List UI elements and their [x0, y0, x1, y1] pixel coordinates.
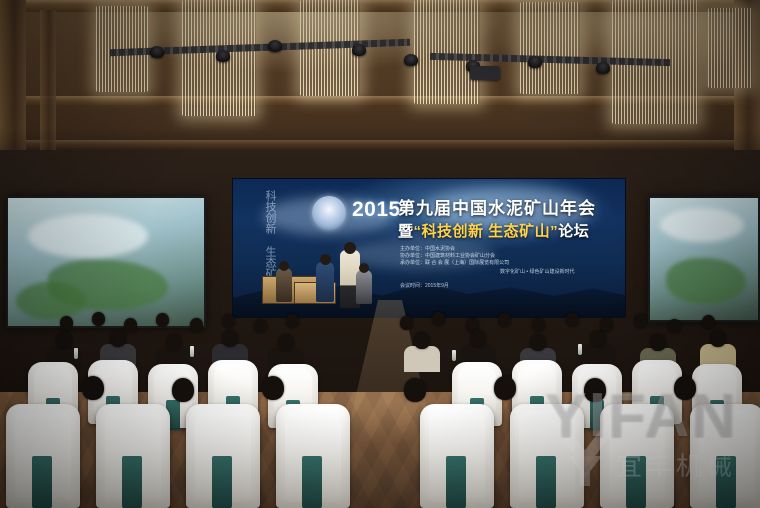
projection-screen-right — [648, 196, 760, 322]
audience-head — [124, 318, 137, 332]
chair-sash-front — [212, 456, 232, 508]
audience-head — [702, 315, 715, 329]
audience-head — [414, 332, 430, 349]
audience-head — [634, 314, 647, 328]
chair-sash-front — [536, 456, 556, 508]
backdrop-organizer-lines: 主办单位：中国水泥协会 协办单位：中国建筑材料工业协会矿山分会 承办单位：联 合… — [400, 246, 509, 267]
backdrop-title-line2-prefix: 暨 — [398, 223, 414, 240]
stage-person-seated-2-head — [279, 261, 289, 271]
audience-head — [668, 319, 681, 333]
audience-head — [710, 330, 726, 347]
chair-sash-front — [446, 456, 466, 508]
spotlight-1 — [150, 46, 164, 58]
organizer-line-1: 主办单位：中国水泥协会 — [400, 246, 509, 253]
stage-person-seated-3-head — [359, 263, 369, 273]
chandelier-5 — [520, 2, 580, 94]
stage-person-standing-head — [344, 242, 356, 254]
screen-left-foliage-2 — [16, 282, 86, 320]
audience-head — [470, 330, 486, 347]
audience-head — [498, 313, 511, 327]
backdrop-place-line: 数字化矿山 • 绿色矿山建设新时代 — [500, 268, 575, 275]
audience-head-front — [494, 376, 516, 400]
audience-head — [566, 313, 579, 327]
audience-head-front — [584, 378, 606, 402]
audience-head-front — [172, 378, 194, 402]
audience-head — [432, 312, 445, 326]
audience-head-front — [262, 376, 284, 400]
spotlight-5 — [404, 54, 418, 66]
association-emblem — [312, 196, 346, 230]
screen-right-foliage — [666, 258, 746, 304]
audience-head — [530, 334, 546, 351]
projector-ceiling — [470, 66, 500, 80]
backdrop-title-line1: 第九届中国水泥矿山年会 — [398, 194, 596, 219]
audience-head-front — [674, 376, 696, 400]
audience-head — [156, 313, 169, 327]
screen-right-highlight — [660, 208, 744, 242]
chair-sash-front — [32, 456, 52, 508]
audience-head — [222, 314, 235, 328]
backdrop-title-line2-suffix: 论坛 — [558, 223, 589, 240]
chandelier-4 — [414, 0, 480, 104]
audience-head — [400, 316, 413, 330]
stage-person-seated-3 — [356, 270, 372, 304]
audience-head — [532, 318, 545, 332]
water-bottle — [190, 346, 194, 357]
audience-head — [60, 316, 73, 330]
audience-head — [278, 334, 294, 351]
chandelier-7 — [708, 8, 752, 88]
audience-head-front — [404, 378, 426, 402]
audience-head — [110, 330, 126, 347]
spotlight-3 — [268, 40, 282, 52]
audience-head — [254, 319, 267, 333]
audience-head — [600, 318, 613, 332]
audience-head — [650, 334, 666, 351]
stage-person-seated-2 — [276, 268, 292, 302]
backdrop-title-line2-quoted: “科技创新 生态矿山” — [414, 223, 559, 240]
audience-torso — [404, 346, 440, 372]
backdrop-vertical-slogan: 科技创新 生态矿山 — [264, 190, 276, 262]
audience-head — [590, 330, 606, 347]
organizer-line-3: 承办单位：联 合 会 展（上海）国际展览有限公司 — [400, 260, 509, 267]
backdrop-title-line2: 暨“科技创新 生态矿山”论坛 — [398, 220, 589, 241]
water-bottle — [452, 350, 456, 361]
stage-person-seated-1-head — [320, 254, 331, 265]
screen-left-highlight — [28, 214, 148, 258]
audience-head — [56, 332, 72, 349]
projection-screen-left — [6, 196, 206, 328]
spotlight-2 — [216, 50, 230, 62]
audience-head — [286, 314, 299, 328]
backdrop-date-line: 会议时间：2015年9月 — [400, 282, 449, 289]
audience-head — [92, 312, 105, 326]
chair-sash-front — [626, 456, 646, 508]
spotlight-4 — [352, 44, 366, 56]
water-bottle — [74, 348, 78, 359]
audience-head-front — [82, 376, 104, 400]
chair-sash-front — [122, 456, 142, 508]
chair-sash-front — [716, 456, 736, 508]
spotlight-8 — [596, 62, 610, 74]
water-bottle — [578, 344, 582, 355]
audience-head — [190, 318, 203, 332]
audience-head — [166, 334, 182, 351]
backdrop-year: 2015 — [352, 198, 401, 222]
organizer-line-2: 协办单位：中国建筑材料工业协会矿山分会 — [400, 253, 509, 260]
conference-hall-photo: 科技创新 生态矿山 2015 第九届中国水泥矿山年会 暨“科技创新 生态矿山”论… — [0, 0, 760, 508]
audience-head — [222, 330, 238, 347]
spotlight-7 — [528, 56, 542, 68]
stage-person-seated-1 — [316, 262, 334, 302]
chair-sash-front — [302, 456, 322, 508]
